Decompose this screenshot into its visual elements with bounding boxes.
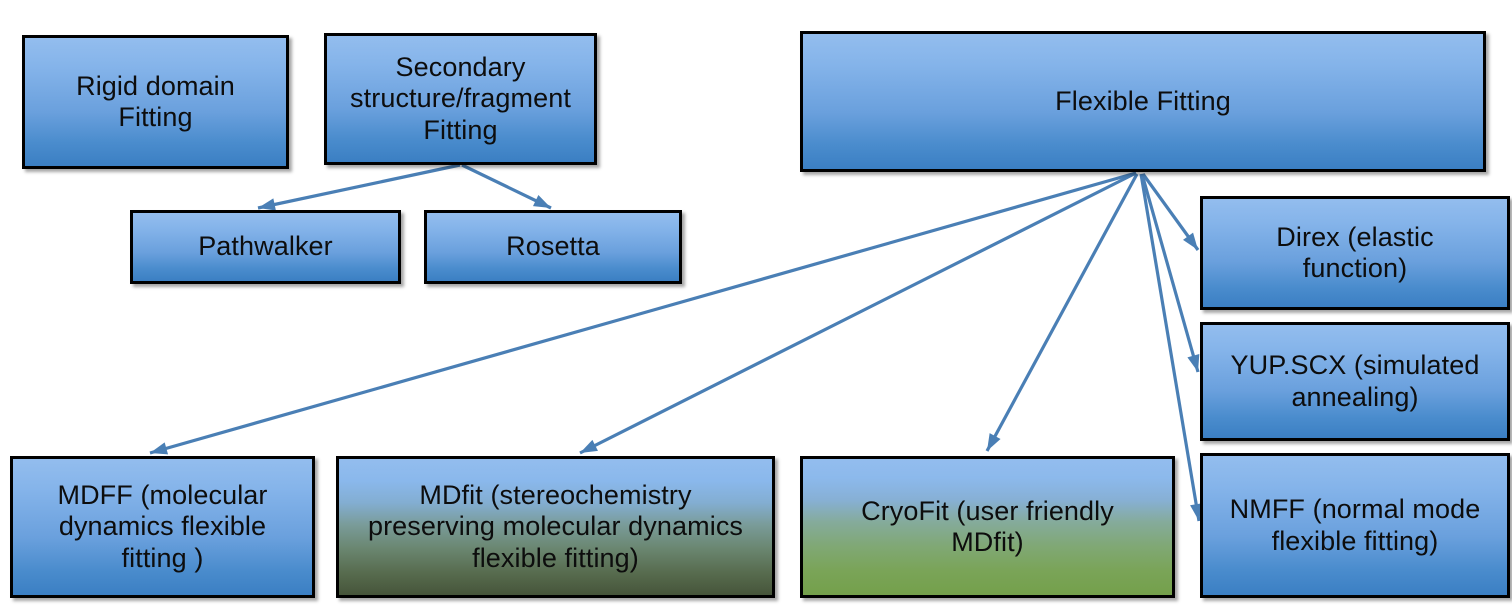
node-label-cryofit: CryoFit (user friendly MDfit) xyxy=(855,496,1120,559)
node-rosetta[interactable]: Rosetta xyxy=(424,210,682,284)
arrow-head xyxy=(580,440,598,453)
node-mdff[interactable]: MDFF (molecular dynamics flexible fittin… xyxy=(10,456,315,598)
arrow-line xyxy=(1142,174,1198,372)
arrow-flexible-to-yupscx xyxy=(1142,174,1199,372)
arrow-flexible-to-direx xyxy=(1143,174,1198,250)
arrow-line xyxy=(258,165,460,208)
node-label-nmff: NMFF (normal mode flexible fitting) xyxy=(1224,494,1487,557)
node-label-flexible-fitting: Flexible Fitting xyxy=(1049,86,1237,117)
arrow-secondary-to-pathwalker xyxy=(258,165,460,211)
node-secondary-structure-fragment-fitting[interactable]: Secondary structure/fragment Fitting xyxy=(324,33,597,165)
node-label-direx: Direx (elastic function) xyxy=(1270,222,1439,285)
node-label-mdfit: MDfit (stereochemistry preserving molecu… xyxy=(362,480,749,574)
arrow-head xyxy=(150,442,168,454)
node-rigid-domain-fitting[interactable]: Rigid domain Fitting xyxy=(22,35,289,169)
node-label-pathwalker: Pathwalker xyxy=(192,231,339,262)
node-label-rosetta: Rosetta xyxy=(500,231,606,262)
arrow-head xyxy=(533,195,551,208)
diagram-canvas: Rigid domain FittingSecondary structure/… xyxy=(0,0,1512,610)
arrow-flexible-to-cryofit xyxy=(987,174,1137,451)
arrow-secondary-to-rosetta xyxy=(462,165,551,208)
arrow-head xyxy=(1187,354,1199,372)
node-flexible-fitting[interactable]: Flexible Fitting xyxy=(800,31,1486,172)
arrow-head xyxy=(987,433,1001,451)
node-label-secondary-structure-fragment-fitting: Secondary structure/fragment Fitting xyxy=(344,52,577,146)
arrow-head xyxy=(258,198,276,210)
node-label-yup-scx: YUP.SCX (simulated annealing) xyxy=(1225,350,1486,413)
arrow-line xyxy=(987,174,1137,451)
node-direx[interactable]: Direx (elastic function) xyxy=(1200,196,1510,310)
node-label-rigid-domain-fitting: Rigid domain Fitting xyxy=(70,71,241,134)
node-mdfit[interactable]: MDfit (stereochemistry preserving molecu… xyxy=(336,456,775,598)
node-yup-scx[interactable]: YUP.SCX (simulated annealing) xyxy=(1200,322,1510,441)
node-label-mdff: MDFF (molecular dynamics flexible fittin… xyxy=(51,480,273,574)
arrow-line xyxy=(462,165,551,208)
node-nmff[interactable]: NMFF (normal mode flexible fitting) xyxy=(1200,453,1510,598)
arrow-head xyxy=(1183,233,1198,250)
arrow-line xyxy=(1143,174,1198,250)
node-pathwalker[interactable]: Pathwalker xyxy=(130,210,401,284)
node-cryofit[interactable]: CryoFit (user friendly MDfit) xyxy=(800,456,1175,598)
